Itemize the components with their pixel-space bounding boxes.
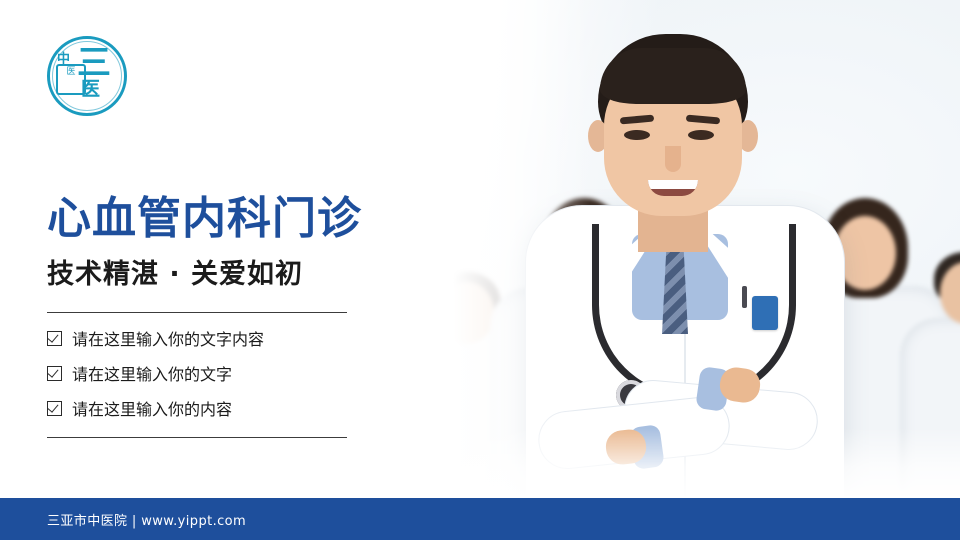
checkbox-icon	[47, 331, 62, 346]
pocket-pen-icon	[742, 286, 747, 308]
list-item: 请在这里输入你的内容	[47, 396, 387, 420]
checkbox-icon	[47, 401, 62, 416]
photo-bottom-fade	[400, 428, 960, 498]
page-title: 心血管内科门诊	[47, 182, 362, 246]
checkbox-icon	[47, 366, 62, 381]
logo-seal-mark: 医	[56, 64, 86, 95]
list-item-label: 请在这里输入你的文字	[72, 361, 232, 385]
doctor-nose	[665, 146, 681, 172]
slide: 中 三 医 医 心血管内科门诊 技术精湛 · 关爱如初 请在这里输入你的文字内容…	[0, 0, 960, 540]
bullet-list: 请在这里输入你的文字内容 请在这里输入你的文字 请在这里输入你的内容	[47, 326, 387, 431]
id-badge	[752, 296, 778, 330]
list-item: 请在这里输入你的文字	[47, 361, 387, 385]
list-item-label: 请在这里输入你的内容	[72, 396, 232, 420]
doctor-eye-left	[624, 130, 650, 140]
hero-photo	[400, 0, 960, 498]
doctor-fringe	[600, 48, 746, 104]
footer-text: 三亚市中医院 | www.yippt.com	[47, 510, 246, 529]
list-item-label: 请在这里输入你的文字内容	[72, 326, 264, 350]
divider-bottom	[47, 437, 347, 438]
doctor-eye-right	[688, 130, 714, 140]
photo-left-fade	[400, 0, 590, 498]
page-subtitle: 技术精湛 · 关爱如初	[47, 252, 303, 291]
divider-top	[47, 312, 347, 313]
hospital-logo: 中 三 医 医	[47, 36, 127, 116]
footer-bar: 三亚市中医院 | www.yippt.com	[0, 498, 960, 540]
list-item: 请在这里输入你的文字内容	[47, 326, 387, 350]
